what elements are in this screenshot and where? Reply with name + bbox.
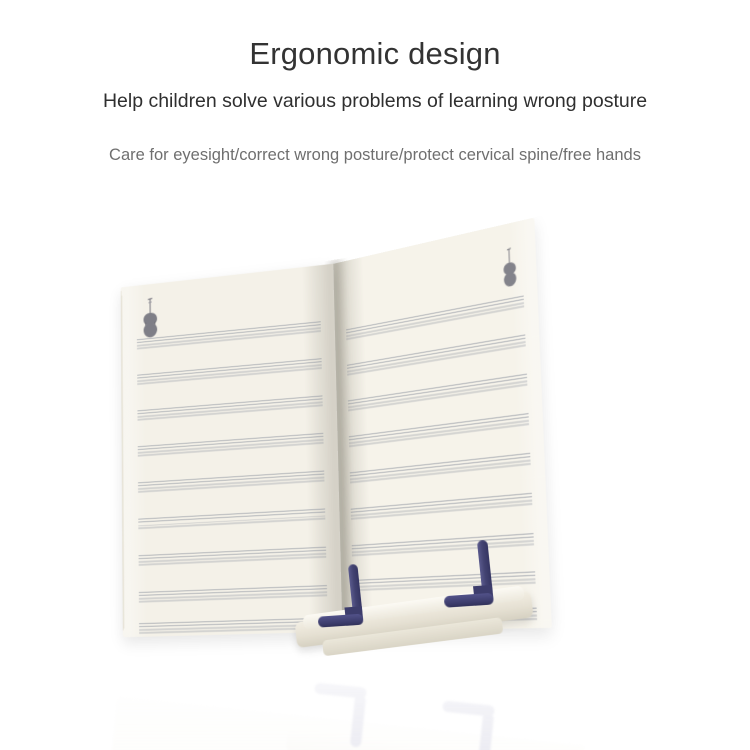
reflection-stand bbox=[285, 728, 536, 750]
banner-subtitle: Help children solve various problems of … bbox=[0, 69, 750, 112]
stave-group-left bbox=[121, 264, 343, 638]
product-scene bbox=[0, 225, 750, 695]
reflection-clip-right bbox=[437, 700, 495, 750]
reflection-clip-arm bbox=[350, 695, 366, 748]
product-image bbox=[0, 225, 750, 750]
stave-line bbox=[349, 413, 530, 449]
product-banner: Ergonomic design Help children solve var… bbox=[0, 0, 750, 750]
banner-tagline: Care for eyesight/correct wrong posture/… bbox=[0, 112, 750, 164]
stave-line bbox=[349, 453, 531, 486]
stave-line bbox=[138, 433, 324, 459]
stave-line bbox=[138, 471, 325, 495]
banner-heading-block: Ergonomic design Help children solve var… bbox=[0, 0, 750, 163]
stave-line bbox=[137, 321, 321, 351]
stave-line bbox=[348, 374, 528, 414]
stave-line bbox=[347, 334, 527, 377]
page-title: Ergonomic design bbox=[0, 0, 750, 69]
stave-line bbox=[346, 295, 525, 342]
reflection-book bbox=[105, 697, 585, 750]
book-page-left bbox=[121, 264, 343, 638]
reflection-clip-foot bbox=[442, 700, 495, 716]
stave-line bbox=[139, 508, 326, 531]
stave-line bbox=[139, 547, 327, 568]
page-clip-right bbox=[438, 540, 494, 608]
page-clip-left bbox=[312, 564, 363, 628]
stave-line bbox=[138, 395, 323, 422]
stave-line bbox=[138, 358, 323, 387]
reflection-clip-arm bbox=[478, 713, 494, 750]
stave-line bbox=[350, 493, 532, 522]
